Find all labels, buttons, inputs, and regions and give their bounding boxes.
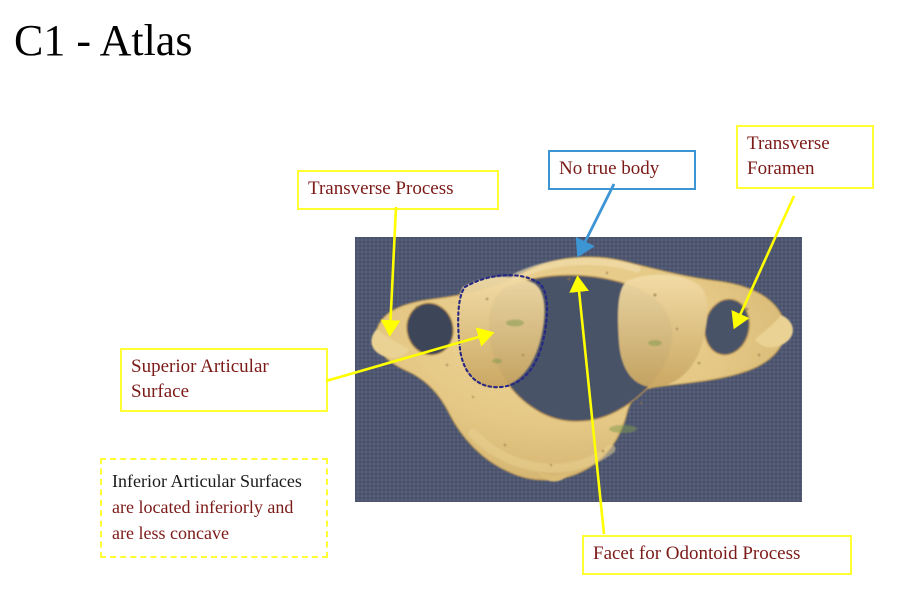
callout-transverse-process[interactable]: Transverse Process	[297, 170, 499, 210]
callout-transverse-foramen-label-line2: Foramen	[747, 157, 863, 182]
callout-inferior-articular-surfaces[interactable]: Inferior Articular Surfaces are located …	[100, 458, 328, 558]
callout-facet-for-odontoid-process[interactable]: Facet for Odontoid Process	[582, 535, 852, 575]
callout-superior-articular-surface[interactable]: Superior Articular Surface	[120, 348, 328, 412]
callout-inferior-articular-label-red: are located inferiorly and are less conc…	[112, 497, 293, 543]
callout-no-true-body[interactable]: No true body	[548, 150, 696, 190]
callout-transverse-process-label: Transverse Process	[308, 178, 453, 199]
slide-canvas: C1 - Atlas	[0, 0, 902, 612]
callout-no-true-body-label: No true body	[559, 158, 659, 179]
callout-transverse-foramen[interactable]: Transverse Foramen	[736, 125, 874, 189]
atlas-vertebra-photo	[355, 237, 802, 502]
page-title: C1 - Atlas	[14, 16, 192, 67]
callout-transverse-foramen-label-line1: Transverse	[747, 132, 863, 157]
callout-superior-articular-label-line2: Surface	[131, 380, 317, 405]
callout-inferior-articular-label-black: Inferior Articular Surfaces	[112, 471, 302, 491]
callout-superior-articular-label-line1: Superior Articular	[131, 355, 317, 380]
callout-facet-for-odontoid-process-label: Facet for Odontoid Process	[593, 543, 800, 564]
